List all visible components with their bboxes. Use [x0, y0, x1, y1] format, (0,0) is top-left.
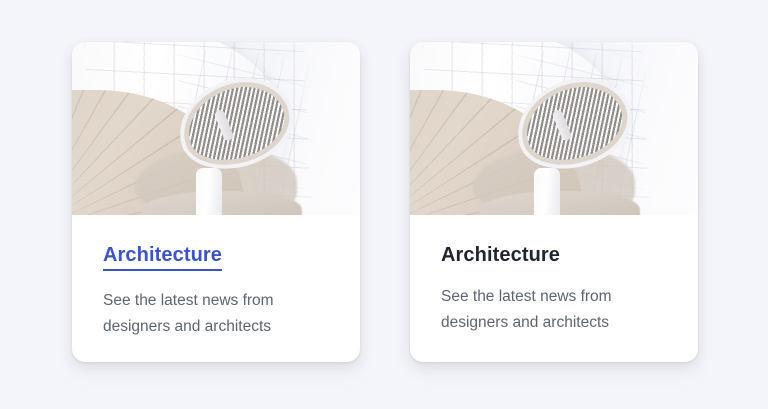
card-title-link[interactable]: Architecture: [103, 243, 222, 271]
photo-composition: [72, 42, 360, 215]
photo-column: [196, 168, 222, 215]
content-card-plain-variant[interactable]: Architecture See the latest news from de…: [410, 42, 698, 362]
photo-column: [534, 168, 560, 215]
card-description: See the latest news from designers and a…: [441, 284, 651, 336]
photo-composition: [410, 42, 698, 215]
card-description: See the latest news from designers and a…: [103, 288, 313, 340]
card-body: Architecture See the latest news from de…: [72, 215, 360, 340]
card-image-architecture: [410, 42, 698, 215]
card-title: Architecture: [441, 243, 667, 267]
card-title-text: Architecture: [441, 243, 560, 267]
page-canvas: Architecture See the latest news from de…: [0, 0, 768, 409]
card-image-architecture: [72, 42, 360, 215]
card-body: Architecture See the latest news from de…: [410, 215, 698, 336]
content-card-link-variant[interactable]: Architecture See the latest news from de…: [72, 42, 360, 362]
card-title: Architecture: [103, 243, 329, 271]
